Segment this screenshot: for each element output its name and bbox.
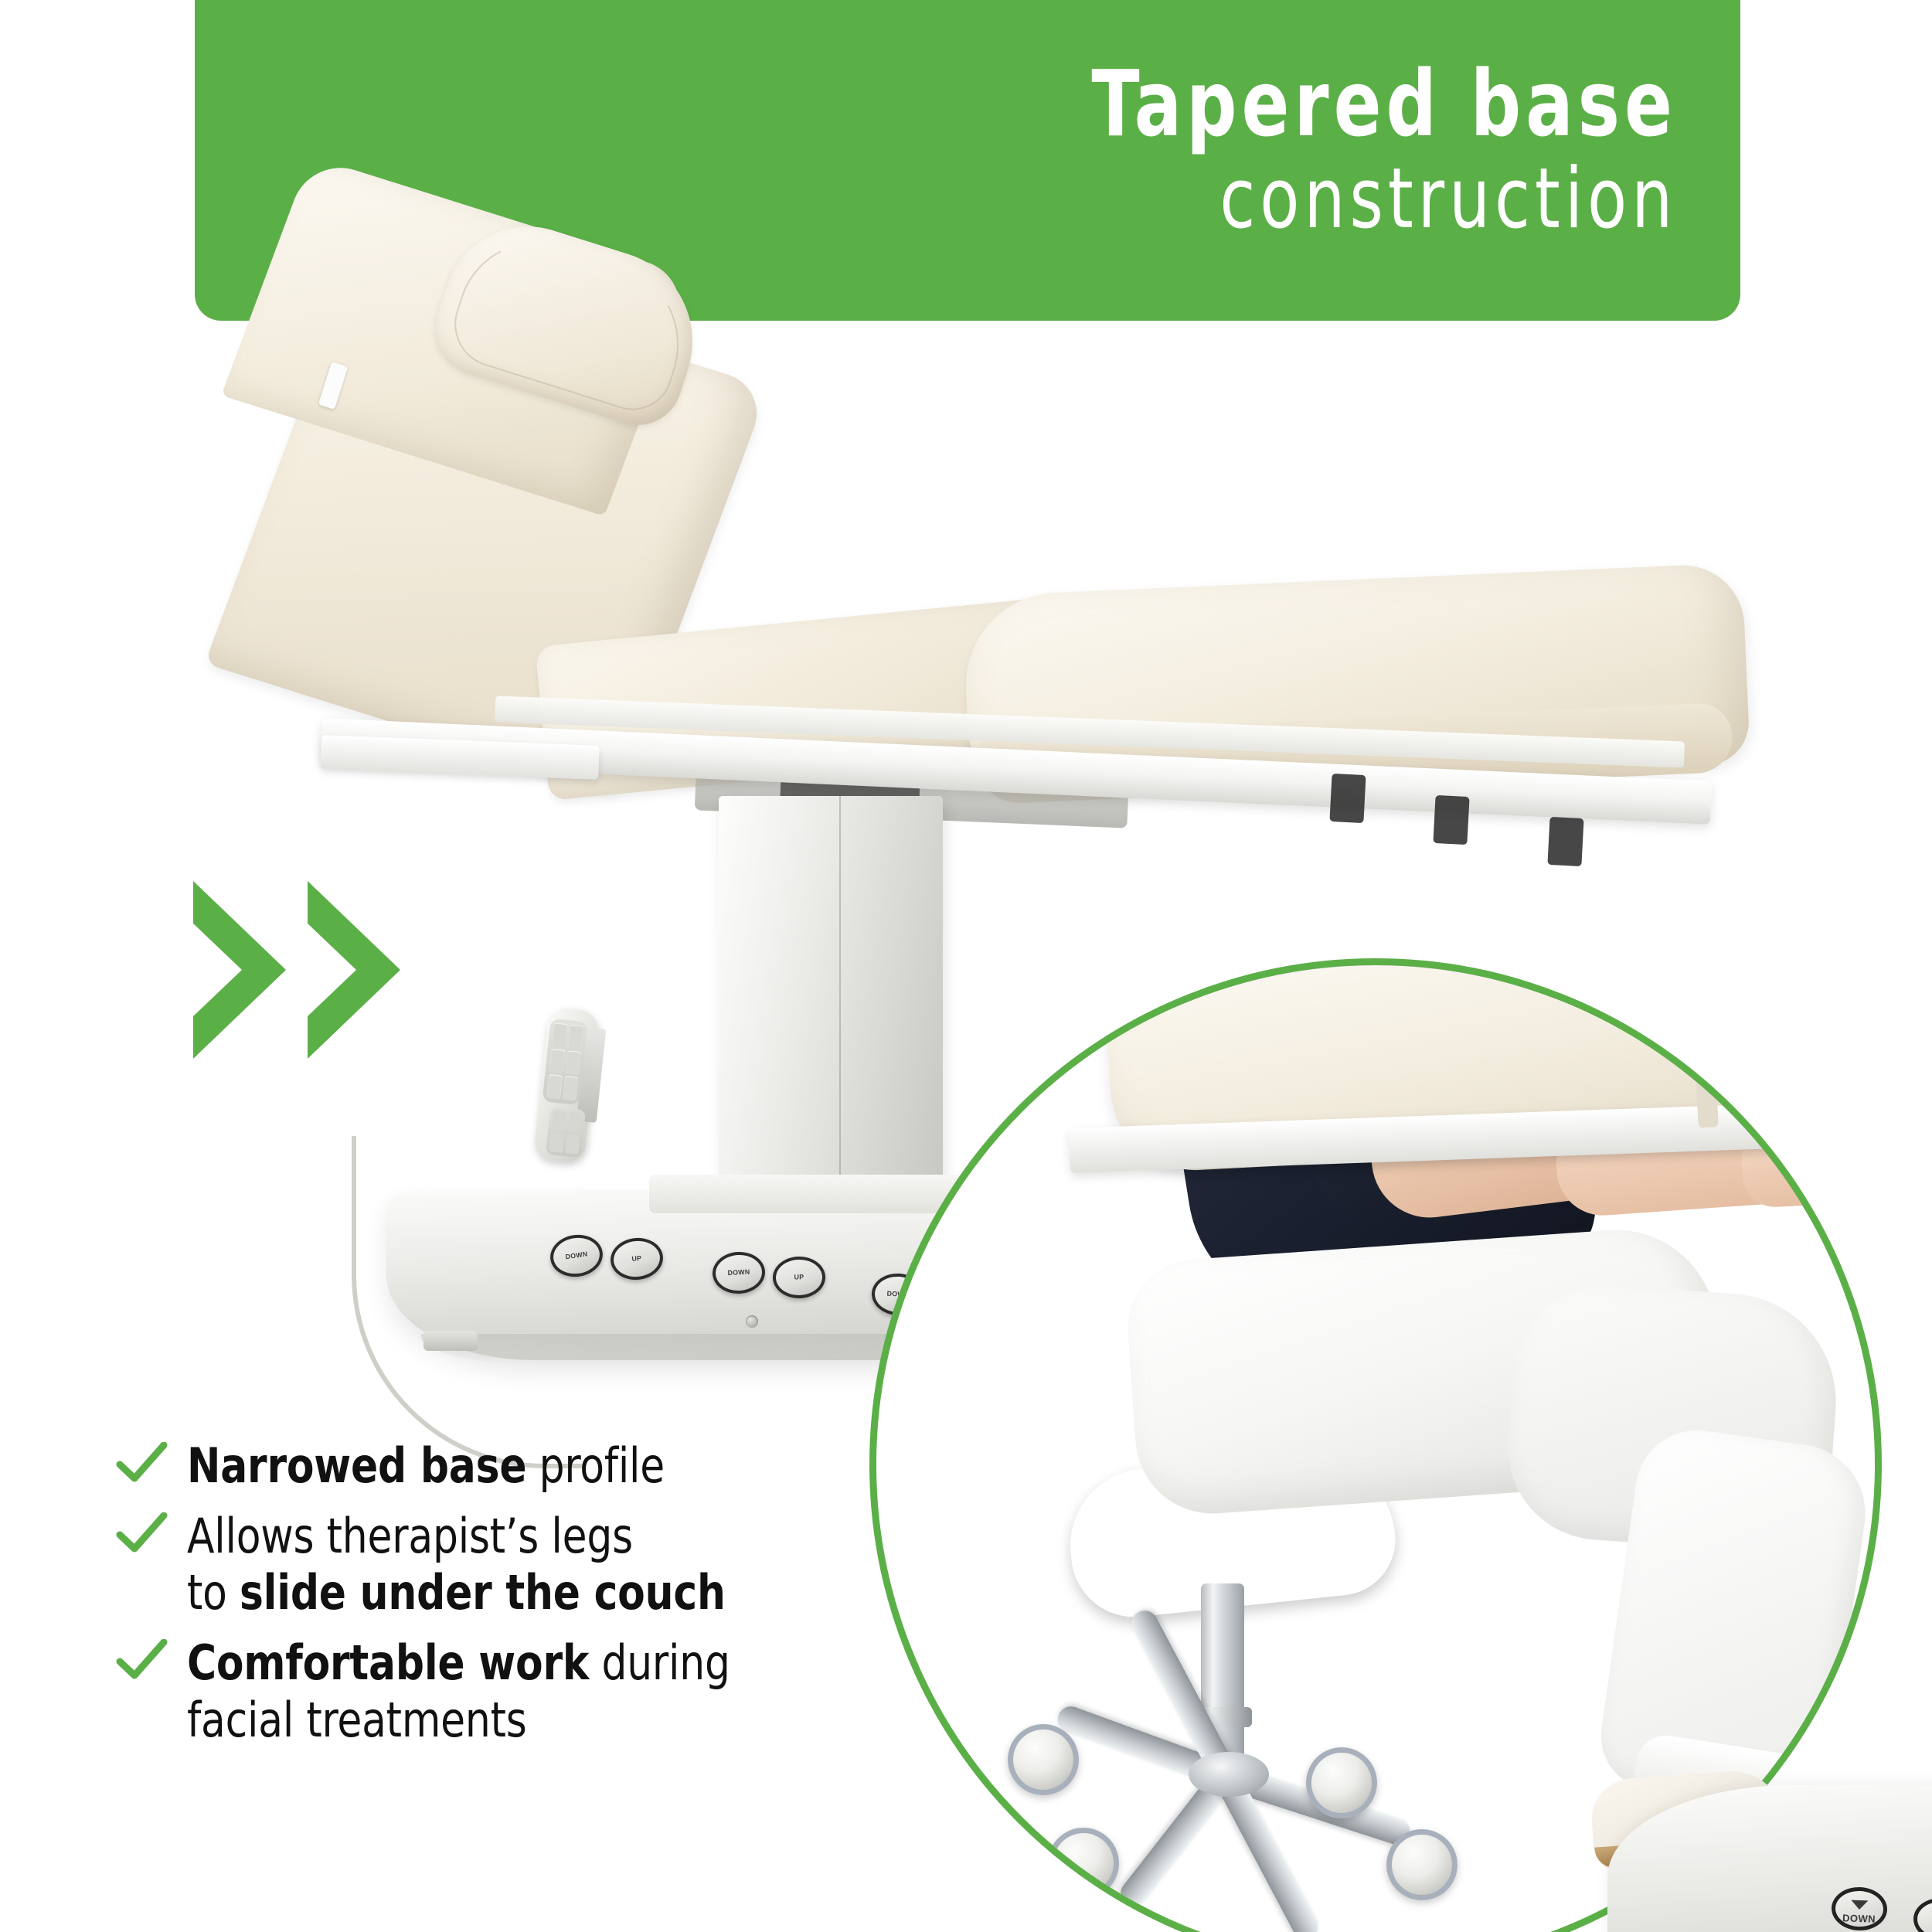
- benefit-item-1: Narrowed base profile: [116, 1437, 896, 1494]
- frame-endcap: [1329, 774, 1366, 823]
- stool-caster: [1306, 1747, 1377, 1818]
- stool-caster: [1386, 1829, 1458, 1900]
- remote-button[interactable]: [565, 1050, 581, 1075]
- page-subtitle: construction: [1219, 153, 1677, 247]
- remote-blank-button[interactable]: [565, 1134, 580, 1155]
- stool-caster: [1048, 1828, 1119, 1899]
- benefit-2-line1: Allows therapist’s legs: [187, 1508, 633, 1564]
- benefit-3-rest: during: [589, 1634, 730, 1691]
- check-icon: [116, 1634, 187, 1685]
- remote-button[interactable]: [549, 1049, 566, 1073]
- benefit-2-line2-bold: slide under the couch: [240, 1564, 726, 1621]
- couch-center-column: [719, 796, 943, 1229]
- remote-button[interactable]: [546, 1074, 563, 1099]
- benefit-1-rest: profile: [526, 1437, 665, 1494]
- remote-button[interactable]: [552, 1022, 568, 1047]
- stool-base-hub: [1189, 1752, 1269, 1797]
- benefit-item-3: Comfortable work during facial treatment…: [116, 1634, 896, 1747]
- remote-button[interactable]: [567, 1024, 583, 1049]
- pedal-label: DOWN: [727, 1268, 750, 1277]
- remote-plus-button[interactable]: [551, 1110, 566, 1131]
- remote-button[interactable]: [562, 1076, 578, 1100]
- benefit-2-line2-pre: to: [187, 1564, 240, 1621]
- benefit-1-bold: Narrowed base: [187, 1437, 526, 1494]
- benefit-text-2: Allows therapist’s legs to slide under t…: [187, 1508, 726, 1621]
- benefit-text-1: Narrowed base profile: [187, 1437, 665, 1494]
- pedal-label: UP: [631, 1255, 642, 1264]
- stool-caster: [1008, 1724, 1079, 1795]
- pedal-label: DOWN: [565, 1250, 588, 1261]
- benefit-3-line2: facial treatments: [187, 1692, 527, 1748]
- chevron-right-icon: [308, 881, 400, 1059]
- check-icon: [116, 1508, 187, 1559]
- chevron-right-icon: [193, 881, 286, 1059]
- column-edge: [839, 796, 841, 1227]
- page-title: Tapered base: [1091, 57, 1677, 150]
- arrow-down-icon: [1851, 1900, 1868, 1910]
- base-foot: [423, 1331, 478, 1351]
- frame-endcap: [1433, 795, 1469, 845]
- benefits-list: Narrowed base profile Allows therapist’s…: [116, 1437, 896, 1762]
- pedal-label: DOWN: [1842, 1912, 1876, 1927]
- benefit-item-2: Allows therapist’s legs to slide under t…: [116, 1508, 896, 1621]
- pedal-label: UP: [794, 1274, 804, 1281]
- base-screw: [746, 1315, 758, 1328]
- check-icon: [116, 1437, 187, 1488]
- double-chevron-right-icon: [193, 881, 518, 1059]
- benefit-3-bold: Comfortable work: [187, 1634, 589, 1691]
- remote-memory-button[interactable]: [549, 1132, 564, 1153]
- remote-button-grid-lower[interactable]: [546, 1107, 586, 1158]
- remote-minus-button[interactable]: [567, 1111, 583, 1132]
- benefit-text-3: Comfortable work during facial treatment…: [187, 1634, 730, 1747]
- frame-endcap: [1547, 817, 1583, 866]
